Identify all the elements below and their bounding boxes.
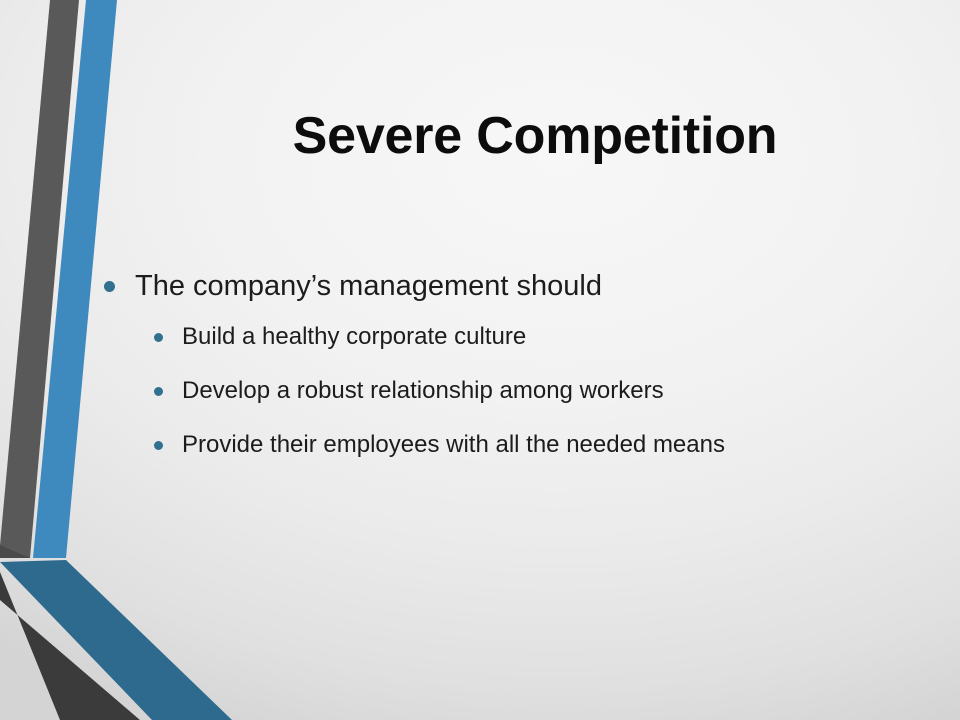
bullet-text: Develop a robust relationship among work…: [182, 376, 664, 406]
bullet-item-level2: Provide their employees with all the nee…: [104, 430, 904, 460]
bullet-dot-icon: [104, 281, 115, 292]
stripe-gray-diagonal: [0, 572, 140, 720]
bullet-text: The company’s management should: [135, 268, 602, 304]
presentation-slide: Severe Competition The company’s managem…: [0, 0, 960, 720]
bullet-dot-icon: [154, 333, 163, 342]
bullet-text: Build a healthy corporate culture: [182, 322, 526, 352]
stripe-blue-diagonal: [0, 560, 232, 720]
page-title: Severe Competition: [150, 108, 920, 165]
stripe-bend-wedge: [0, 545, 30, 558]
bullet-item-level2: Build a healthy corporate culture: [104, 322, 904, 352]
bullet-item-level2: Develop a robust relationship among work…: [104, 376, 904, 406]
bullet-text: Provide their employees with all the nee…: [182, 430, 725, 460]
slide-body-placeholder: The company’s management should Build a …: [104, 268, 904, 484]
bullet-dot-icon: [154, 387, 163, 396]
bullet-dot-icon: [154, 441, 163, 450]
slide-title-placeholder: Severe Competition: [150, 108, 920, 165]
bullet-item-level1: The company’s management should: [104, 268, 904, 304]
stripe-gray-vertical: [0, 0, 79, 558]
